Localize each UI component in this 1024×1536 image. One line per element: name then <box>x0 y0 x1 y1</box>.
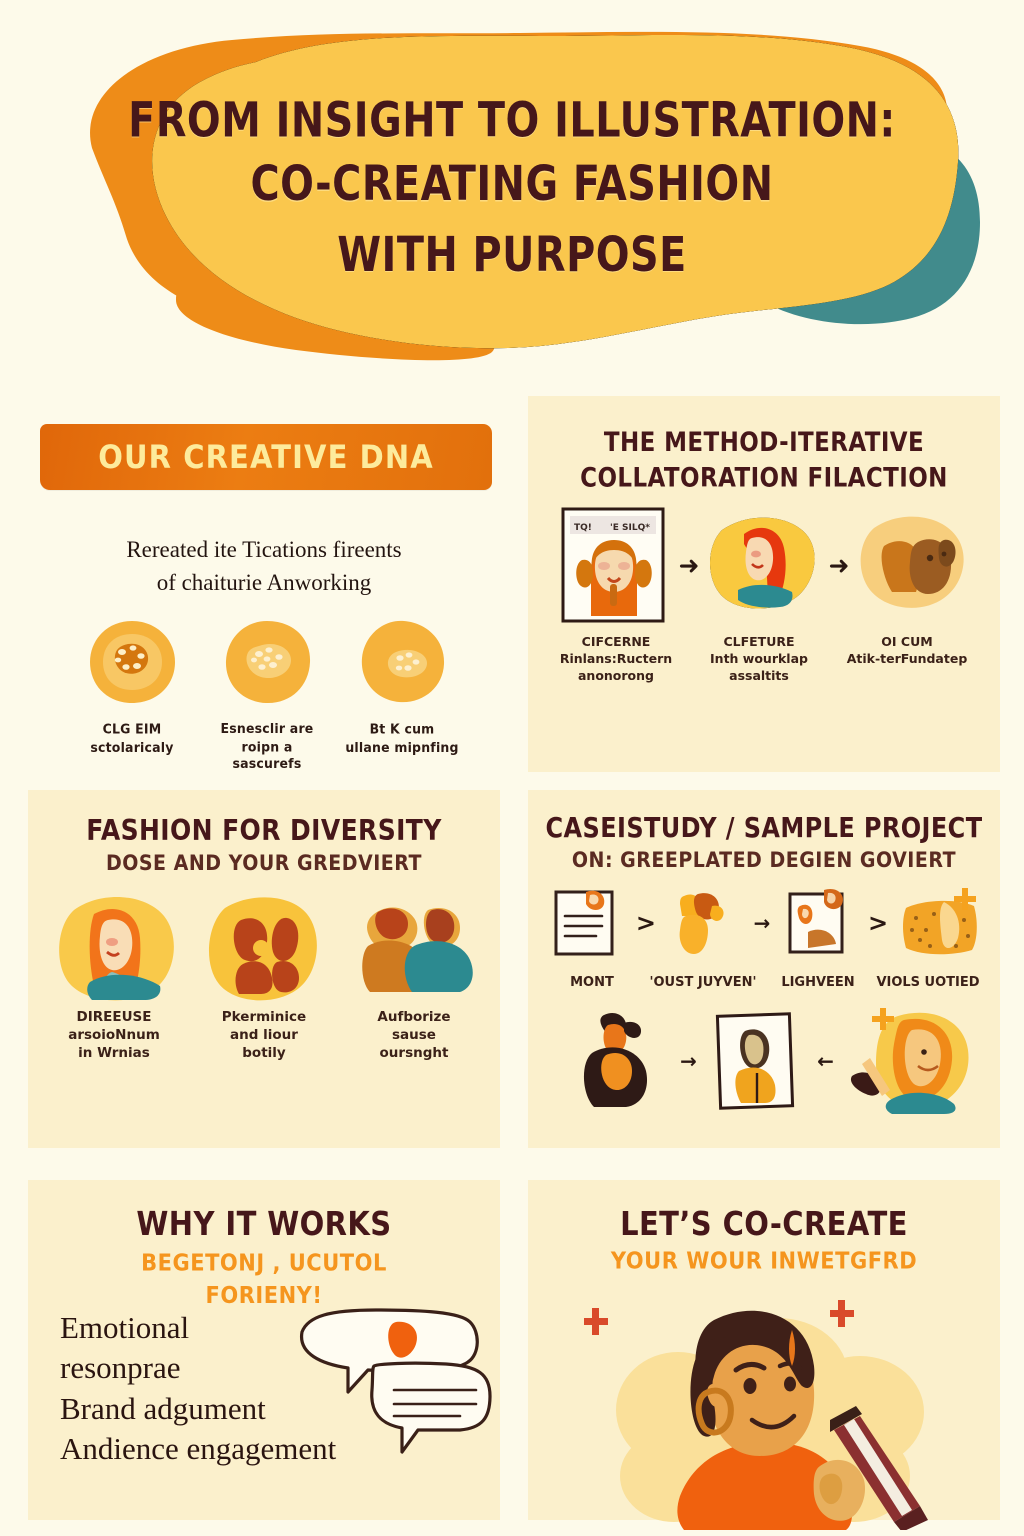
two-figures-icon <box>199 890 329 1002</box>
creative-dna-lead-line-2: of chaiturie Anworking <box>38 567 490 600</box>
case-study-row-2: → ← <box>572 1006 972 1116</box>
artist-with-pencil-icon <box>568 1280 968 1530</box>
sketch-figure-icon <box>668 886 742 960</box>
diversity-title: FASHION FOR DIVERSITY <box>28 814 500 847</box>
method-arrow-1: ➜ <box>679 551 700 580</box>
artist-drawing-icon <box>846 1006 972 1116</box>
case-study-sep-1: > <box>636 909 656 937</box>
card-method: THE METHOD-ITERATIVE COLLATORATION FILAC… <box>528 396 1000 772</box>
case-study-caption-row: MONT 'OUST JUYVEN' LIGHVEEN VIOLS UOTIED <box>544 974 986 991</box>
woman-portrait-icon <box>54 890 184 1002</box>
case-study-caption-4: VIOLS UOTIED <box>870 974 986 991</box>
case-study-sep-2: → <box>754 911 771 935</box>
case-study-sep-3: > <box>868 909 888 937</box>
method-icon-row: TQ!'E SILQ* ➜ ➜ <box>558 504 970 626</box>
creative-dna-item-1: CLG EIM sctolaricaly <box>72 618 192 772</box>
lets-co-create-title: LET’S CO-CREATE <box>528 1204 1000 1243</box>
why-it-works-title: WHY IT WORKS <box>28 1204 500 1243</box>
case-study-caption-3: LIGHVEEN <box>766 974 870 991</box>
case-study-caption-1: MONT <box>544 974 640 991</box>
page-title: FROM INSIGHT TO ILLUSTRATION: CO-CREATIN… <box>15 88 1008 287</box>
lets-co-create-subtitle: YOUR WOUR INWETGFRD <box>528 1247 1000 1274</box>
method-title-line-1: THE METHOD-ITERATIVE <box>528 426 1000 462</box>
header-banner: FROM INSIGHT TO ILLUSTRATION: CO-CREATIN… <box>0 0 1024 372</box>
card-why-it-works: WHY IT WORKS BEGETONJ , UCUTOL FORIENY! … <box>28 1180 500 1520</box>
creative-dna-caption-3: Bt K cum ullane mipnfing <box>345 721 458 756</box>
method-caption-row: CIFCERNE Rinlans:Ructern anonorong CLFET… <box>546 634 982 684</box>
method-title: THE METHOD-ITERATIVE COLLATORATION FILAC… <box>528 426 1000 497</box>
creative-dna-banner: OUR CREATIVE DNA <box>40 424 492 490</box>
blob-circle-icon <box>86 618 178 706</box>
case-study-sep-4: → <box>680 1049 697 1073</box>
case-study-title: CASEISTUDY / SAMPLE PROJECT <box>528 812 1000 844</box>
blob-circle-icon <box>221 618 313 706</box>
dog-sketch-icon <box>858 504 970 626</box>
case-study-subtitle: ON: GREEPLATED DEGIEN GOVIERT <box>528 848 1000 873</box>
method-arrow-2: ➜ <box>829 551 850 580</box>
svg-text:TQ!: TQ! <box>574 523 592 533</box>
svg-text:'E SILQ*: 'E SILQ* <box>610 523 650 533</box>
creative-dna-lead-line-1: Rereated ite Tications fireents <box>38 534 490 567</box>
title-line-2: CO-CREATING FASHION <box>15 152 1008 216</box>
creative-dna-caption-1: CLG EIM sctolaricaly <box>90 721 173 756</box>
case-study-row-1: > → > <box>550 886 980 960</box>
diversity-caption-3: Aufborize sause oursnght <box>344 1008 484 1062</box>
diversity-caption-row: DIREEUSE arsoioNnum in Wrnias Pkerminice… <box>44 1008 484 1062</box>
diversity-caption-2: Pkerminice and liour botily <box>194 1008 334 1062</box>
method-caption-3: OI CUM Atik-terFundatep <box>832 634 982 684</box>
case-study-caption-2: 'OUST JUYVEN' <box>640 974 766 991</box>
framed-model-icon <box>709 1009 805 1113</box>
framed-portrait-icon: TQ!'E SILQ* <box>558 504 670 626</box>
creative-dna-caption-2: Esnesclir are roipn a sascurefs <box>221 721 314 773</box>
method-caption-1: CIFCERNE Rinlans:Ructern anonorong <box>546 634 686 684</box>
notepad-icon <box>550 886 624 960</box>
diversity-subtitle: DOSE AND YOUR GREDVIERT <box>28 851 500 876</box>
fabric-swatch-icon <box>900 886 980 960</box>
blob-circle-icon <box>356 618 448 706</box>
creative-dna-item-3: Bt K cum ullane mipnfing <box>342 618 462 772</box>
diversity-caption-1: DIREEUSE arsoioNnum in Wrnias <box>44 1008 184 1062</box>
framed-sketch-icon <box>782 886 856 960</box>
case-study-sep-5: ← <box>817 1049 834 1073</box>
card-diversity: FASHION FOR DIVERSITY DOSE AND YOUR GRED… <box>28 790 500 1148</box>
card-case-study: CASEISTUDY / SAMPLE PROJECT ON: GREEPLAT… <box>528 790 1000 1148</box>
speech-bubbles-icon <box>290 1302 500 1462</box>
method-title-line-2: COLLATORATION FILACTION <box>528 462 1000 498</box>
creative-dna-icon-row: CLG EIM sctolaricaly Esnesclir are roipn… <box>72 618 462 772</box>
why-it-works-subtitle-line-1: BEGETONJ , UCUTOL <box>28 1247 500 1279</box>
diversity-icon-row <box>54 890 474 1002</box>
creative-dna-item-2: Esnesclir are roipn a sascurefs <box>207 618 327 772</box>
creative-dna-banner-label: OUR CREATIVE DNA <box>98 438 434 475</box>
title-line-1: FROM INSIGHT TO ILLUSTRATION: <box>15 88 1008 152</box>
couple-icon <box>344 890 474 1002</box>
method-caption-2: CLFETURE Inth wourklap assaltits <box>689 634 829 684</box>
card-creative-dna: OUR CREATIVE DNA Rereated ite Tications … <box>28 396 500 772</box>
creative-dna-lead: Rereated ite Tications fireents of chait… <box>38 534 490 599</box>
dark-figure-icon <box>572 1009 668 1113</box>
title-line-3: WITH PURPOSE <box>15 223 1008 287</box>
red-hair-woman-icon <box>708 504 820 626</box>
card-lets-co-create: LET’S CO-CREATE YOUR WOUR INWETGFRD <box>528 1180 1000 1520</box>
